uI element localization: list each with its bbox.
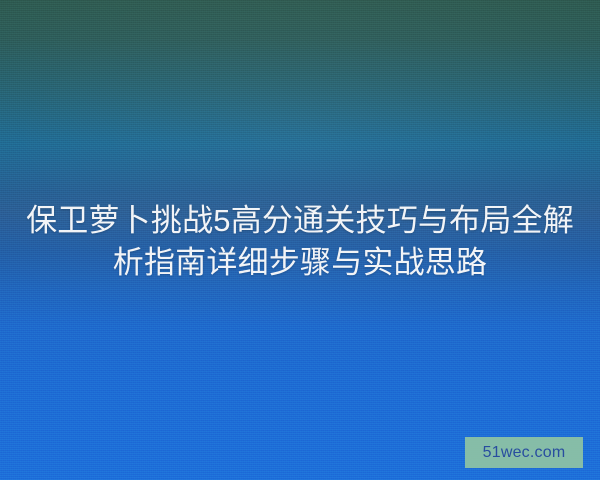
- title-block: 保卫萝卜挑战5高分通关技巧与布局全解析指南详细步骤与实战思路: [0, 200, 600, 284]
- watermark-label: 51wec.com: [483, 445, 566, 461]
- cover-image: 保卫萝卜挑战5高分通关技巧与布局全解析指南详细步骤与实战思路 51wec.com: [0, 0, 600, 480]
- page-title: 保卫萝卜挑战5高分通关技巧与布局全解析指南详细步骤与实战思路: [22, 200, 578, 284]
- watermark-badge: 51wec.com: [465, 437, 583, 468]
